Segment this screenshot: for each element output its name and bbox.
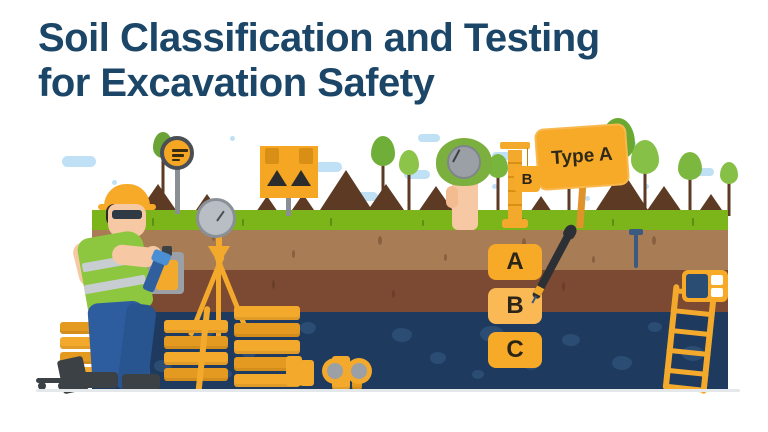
shoring-plank xyxy=(234,340,300,354)
soil-speck xyxy=(378,236,382,245)
hand-held-soil-meter xyxy=(436,138,492,186)
safety-glasses-icon xyxy=(112,210,142,219)
tablet-button[interactable] xyxy=(711,275,723,285)
tablet-button[interactable] xyxy=(711,288,723,297)
infographic-canvas: Soil Classification and Testing for Exca… xyxy=(0,0,768,432)
grass-blade xyxy=(692,218,694,226)
soil-card-b-label: B xyxy=(506,292,523,320)
soil-layer-grass xyxy=(92,210,728,230)
type-a-sign[interactable]: Type A xyxy=(534,123,630,191)
soil-speck xyxy=(592,256,595,263)
dirt-mound xyxy=(368,184,404,210)
tablet-screen xyxy=(686,274,708,298)
dirt-mound xyxy=(320,170,372,210)
soil-speck xyxy=(444,254,447,261)
title-line-2: for Excavation Safety xyxy=(38,61,738,106)
field-tablet[interactable] xyxy=(682,270,728,302)
excavation-hazard-sign[interactable] xyxy=(260,146,318,198)
cable-spool xyxy=(322,358,348,384)
grass-blade xyxy=(242,219,244,226)
grass-blade xyxy=(422,220,424,226)
water-drop-icon xyxy=(230,136,235,141)
cloud-icon xyxy=(418,134,440,142)
title-line-1: Soil Classification and Testing xyxy=(38,16,600,60)
type-a-sign-label: Type A xyxy=(534,123,630,191)
soil-card-a-label: A xyxy=(506,248,523,276)
crane-block-label: B xyxy=(522,171,533,188)
pipe-bundle xyxy=(300,360,314,386)
crane-block-b: B xyxy=(514,166,540,192)
cable-spool xyxy=(346,358,372,384)
soil-speck xyxy=(292,250,295,258)
soil-card-a[interactable]: A xyxy=(488,244,542,280)
shoring-plank xyxy=(234,306,300,320)
page-title: Soil Classification and Testing for Exca… xyxy=(38,16,738,106)
soil-speck xyxy=(562,282,565,291)
grass-blade xyxy=(330,218,332,226)
grass-blade xyxy=(612,219,614,226)
soil-speck xyxy=(392,290,395,298)
soil-card-c[interactable]: C xyxy=(488,332,542,368)
round-info-sign[interactable] xyxy=(160,136,194,170)
dirt-mound xyxy=(646,186,682,212)
water-drop-icon xyxy=(585,196,590,201)
soil-speck xyxy=(652,236,656,245)
tripod-gauge xyxy=(196,198,236,238)
borehole-marker xyxy=(634,234,638,268)
work-boot xyxy=(122,374,160,390)
cloud-icon xyxy=(62,156,96,167)
shoring-plank xyxy=(234,323,300,337)
soil-card-c-label: C xyxy=(506,336,523,364)
dirt-mound xyxy=(700,194,722,210)
illustration-scene: Type A B A B C xyxy=(0,110,768,405)
ground-baseline xyxy=(36,389,740,392)
soil-speck xyxy=(272,280,275,289)
